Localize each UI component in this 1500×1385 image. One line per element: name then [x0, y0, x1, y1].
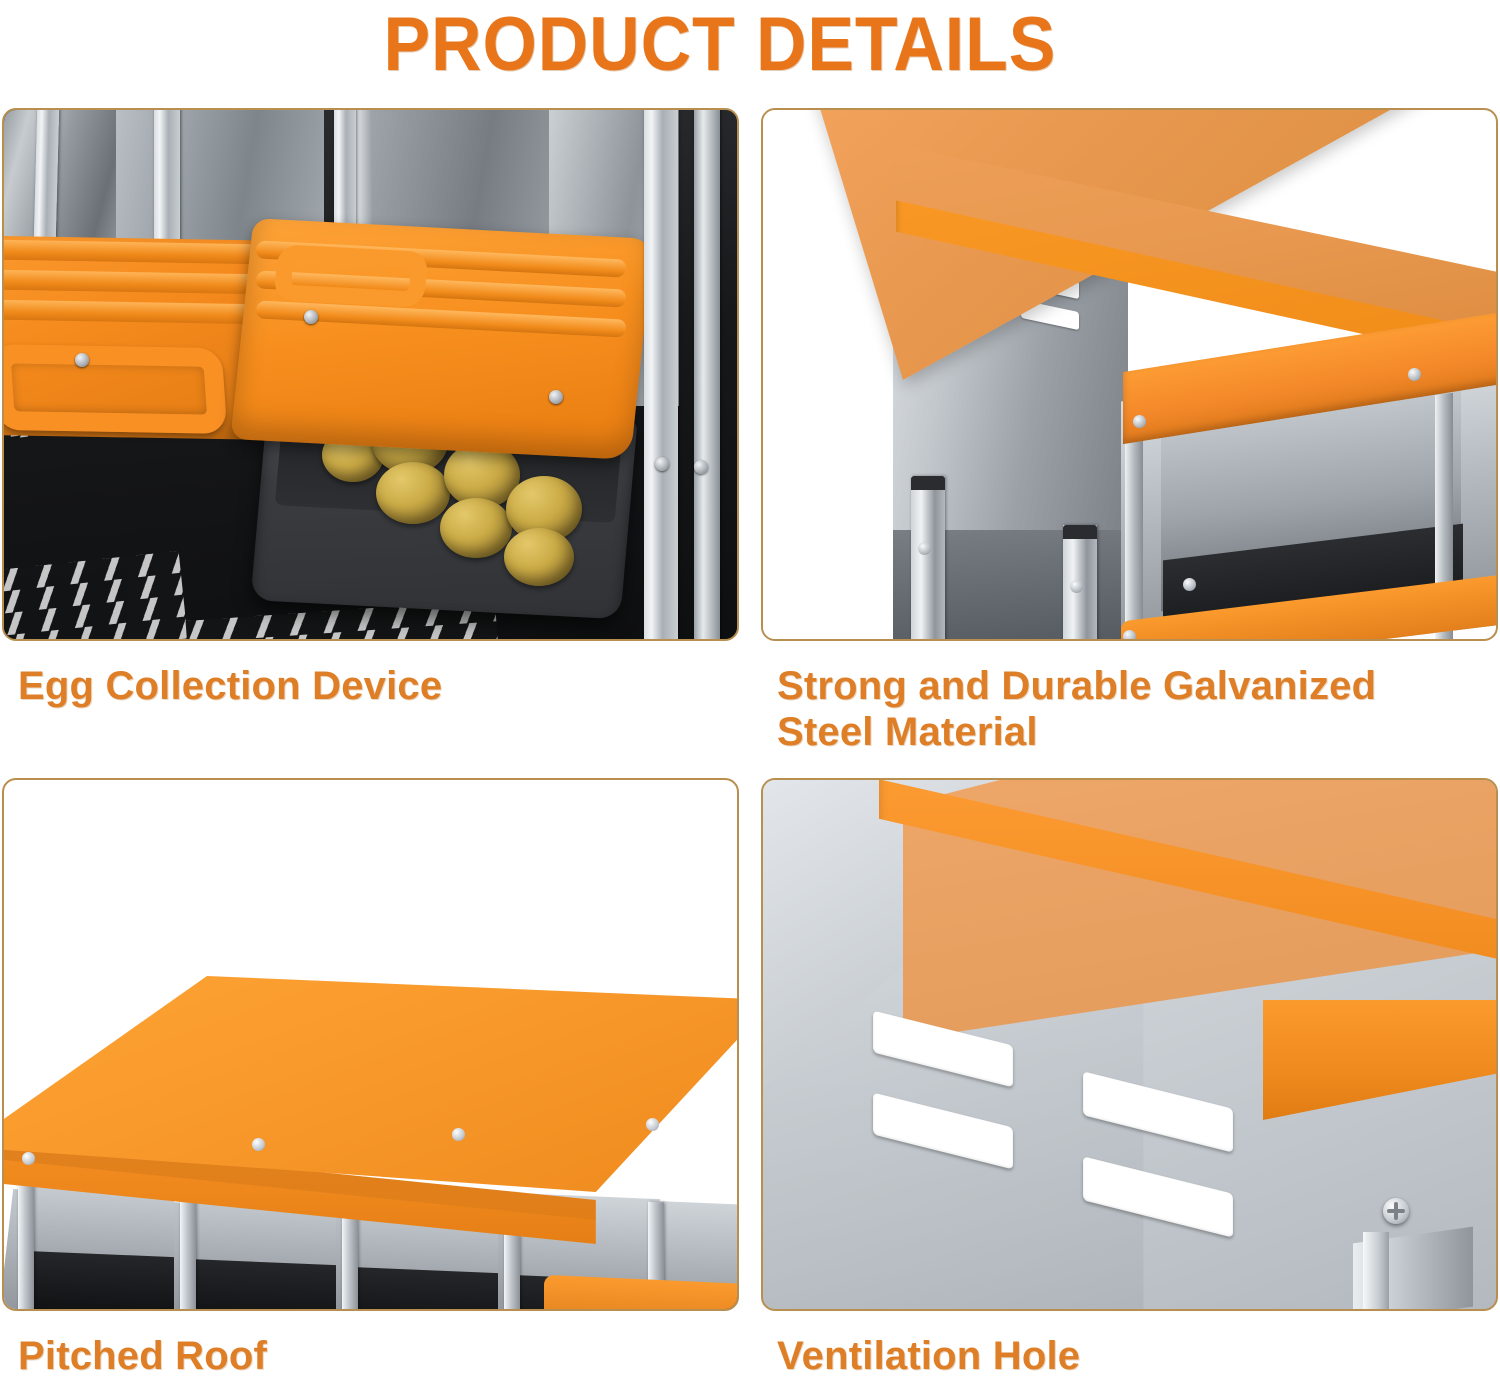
screw	[252, 1138, 265, 1151]
egg	[376, 462, 450, 524]
panel-cell-pitched-roof: Pitched Roof	[2, 778, 739, 1379]
caption-line-1: Pitched Roof	[18, 1334, 267, 1378]
product-image-galvanized-steel[interactable]	[761, 108, 1498, 641]
screw	[655, 457, 669, 471]
screw	[1133, 415, 1146, 428]
metal-post	[694, 108, 720, 641]
screw	[1408, 368, 1421, 381]
screw	[1183, 578, 1196, 591]
compartment-divider	[18, 1170, 34, 1311]
egg	[440, 498, 512, 558]
metal-post	[644, 108, 678, 641]
screw	[918, 542, 931, 555]
compartment-shadow	[348, 1267, 498, 1311]
orange-roof-eave	[1263, 1000, 1498, 1120]
panel-caption-ventilation-hole: Ventilation Hole	[761, 1333, 1498, 1379]
support-leg	[911, 476, 945, 641]
panel-caption-pitched-roof: Pitched Roof	[2, 1333, 739, 1379]
screw	[22, 1152, 35, 1165]
panel-caption-galvanized-steel: Strong and Durable Galvanized Steel Mate…	[761, 663, 1498, 755]
panel-caption-egg-collection-device: Egg Collection Device	[2, 663, 739, 709]
caption-line-1: Strong and Durable Galvanized	[777, 664, 1376, 708]
leg-cap	[911, 476, 945, 490]
screw	[452, 1128, 465, 1141]
lid-handle	[273, 244, 429, 308]
caption-line-1: Ventilation Hole	[777, 1334, 1080, 1378]
caption-line-2: Steel Material	[777, 709, 1498, 755]
product-details-page: PRODUCT DETAILS	[0, 0, 1500, 1385]
screw	[549, 390, 563, 404]
product-image-pitched-roof[interactable]	[2, 778, 739, 1311]
compartment-shadow	[24, 1251, 174, 1311]
screw	[1123, 630, 1136, 641]
product-image-egg-collection-device[interactable]	[2, 108, 739, 641]
screw	[304, 310, 318, 324]
screw	[1383, 1198, 1409, 1224]
screw	[1070, 580, 1083, 593]
screw	[75, 353, 89, 367]
egg	[504, 528, 574, 586]
caption-line-1: Egg Collection Device	[18, 664, 442, 708]
page-title: PRODUCT DETAILS	[0, 2, 1440, 88]
metal-rail	[1363, 1232, 1389, 1311]
lid-handle	[2, 344, 227, 434]
panel-cell-ventilation-hole: Ventilation Hole	[761, 778, 1498, 1379]
screw	[694, 460, 708, 474]
product-image-ventilation-hole[interactable]	[761, 778, 1498, 1311]
screw	[646, 1118, 659, 1131]
panel-cell-egg-collection-device: Egg Collection Device	[2, 108, 739, 709]
leg-cap	[1063, 525, 1097, 539]
panel-cell-galvanized-steel: Strong and Durable Galvanized Steel Mate…	[761, 108, 1498, 755]
compartment-shadow	[186, 1259, 336, 1311]
